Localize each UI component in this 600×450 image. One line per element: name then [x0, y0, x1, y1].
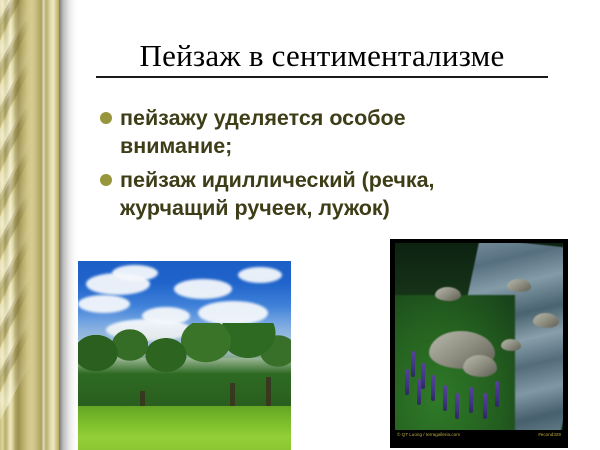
- bullet-text: пейзажу уделяется особое внимание;: [120, 104, 520, 160]
- bullet-list: пейзажу уделяется особое внимание; пейза…: [100, 104, 520, 228]
- title-underline-rule: [96, 76, 548, 78]
- grass-region: [78, 406, 291, 450]
- slide-title-block: Пейзаж в сентиментализме: [96, 38, 548, 78]
- bullet-text: пейзаж идиллический (речка, журчащий руч…: [120, 166, 520, 222]
- slide-title: Пейзаж в сентиментализме: [96, 38, 548, 74]
- presentation-slide: Пейзаж в сентиментализме пейзажу уделяет…: [0, 0, 600, 450]
- column-drop-shadow: [59, 0, 80, 450]
- gold-column-decoration: [0, 0, 59, 450]
- column-spiral-highlights: [0, 0, 59, 450]
- mountain-stream-photo: © QT Luong / terragalleria.com #econd329: [390, 239, 568, 448]
- list-item: пейзажу уделяется особое внимание;: [100, 104, 520, 160]
- list-item: пейзаж идиллический (речка, журчащий руч…: [100, 166, 520, 222]
- photo-credit-bar: © QT Luong / terragalleria.com #econd329: [395, 430, 563, 439]
- bullet-circle-icon: [100, 174, 112, 186]
- bullet-circle-icon: [100, 112, 112, 124]
- photo-credit-right: #econd329: [538, 432, 561, 438]
- photo-credit-left: © QT Luong / terragalleria.com: [397, 432, 460, 438]
- meadow-and-trees-photo: [78, 261, 291, 450]
